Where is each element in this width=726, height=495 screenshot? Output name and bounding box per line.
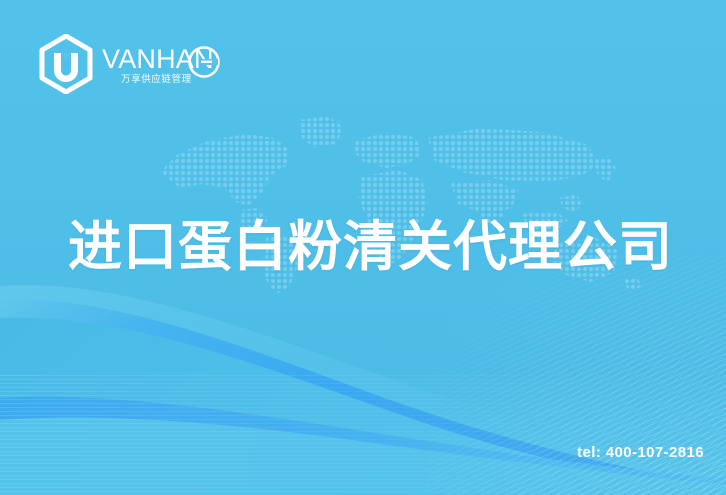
contact-phone[interactable]: tel: 400-107-2816 (577, 444, 704, 461)
vanhang-hexagon-mark-icon (38, 34, 94, 94)
brand-logo[interactable]: VANHAN 万享供应链管理 (38, 34, 220, 94)
brand-wordmark: VANHAN 万享供应链管理 (102, 41, 220, 87)
page-title: 进口蛋白粉清关代理公司 (68, 216, 673, 278)
promo-banner: VANHAN 万享供应链管理 进口蛋白粉清关代理公司 tel: 400-107-… (0, 0, 726, 495)
svg-text:万享供应链管理: 万享供应链管理 (121, 73, 192, 85)
